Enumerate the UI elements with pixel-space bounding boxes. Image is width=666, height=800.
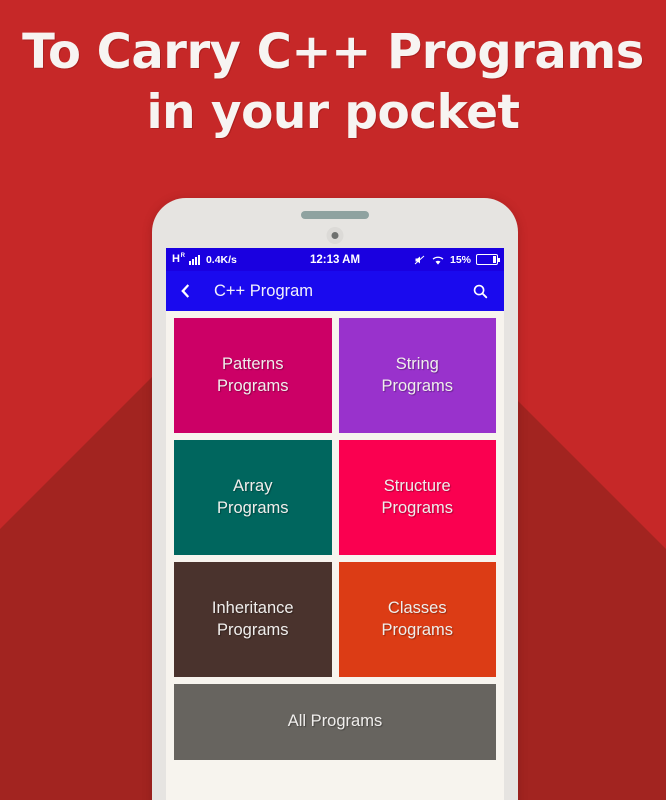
tile-line-1: Classes xyxy=(381,598,453,620)
phone-screen: HR 0.4K/s 12:13 AM 15% xyxy=(166,248,504,800)
front-camera-icon xyxy=(327,227,344,244)
tile-line-1: String xyxy=(381,354,453,376)
tile-line-1: Patterns xyxy=(217,354,289,376)
tile-label: All Programs xyxy=(288,711,382,733)
tile-line-2: Programs xyxy=(217,498,289,520)
battery-percent-label: 15% xyxy=(450,254,471,266)
network-roaming-superscript: R xyxy=(181,253,185,259)
mute-icon xyxy=(413,254,426,266)
tile-line-1: Inheritance xyxy=(212,598,294,620)
tile-line-2: Programs xyxy=(381,620,453,642)
phone-speaker-grille xyxy=(301,211,369,219)
app-bar-title: C++ Program xyxy=(214,282,472,301)
tile-label: Inheritance Programs xyxy=(212,598,294,642)
back-chevron-icon[interactable] xyxy=(178,283,196,299)
tile-label: Structure Programs xyxy=(381,476,453,520)
tile-array-programs[interactable]: Array Programs xyxy=(174,440,332,555)
tile-all-programs[interactable]: All Programs xyxy=(174,684,496,760)
tile-label: Array Programs xyxy=(217,476,289,520)
tile-inheritance-programs[interactable]: Inheritance Programs xyxy=(174,562,332,677)
tile-label: Patterns Programs xyxy=(217,354,289,398)
status-bar-right: 15% xyxy=(360,254,498,266)
status-bar: HR 0.4K/s 12:13 AM 15% xyxy=(166,248,504,271)
tile-line-2: Programs xyxy=(381,498,453,520)
network-type-label: HR xyxy=(172,254,185,265)
tile-line-1: Structure xyxy=(381,476,453,498)
signal-bars-icon xyxy=(189,255,200,265)
tile-line-2: Programs xyxy=(217,376,289,398)
tile-string-programs[interactable]: String Programs xyxy=(339,318,497,433)
wifi-icon xyxy=(431,254,445,266)
status-bar-left: HR 0.4K/s xyxy=(172,254,310,266)
battery-icon xyxy=(476,254,498,265)
search-icon[interactable] xyxy=(472,283,492,300)
page-title: To Carry C++ Programs in your pocket xyxy=(0,22,666,144)
headline-line-2: in your pocket xyxy=(0,83,666,143)
data-speed-label: 0.4K/s xyxy=(206,254,237,266)
status-bar-clock: 12:13 AM xyxy=(310,254,360,266)
tile-line-2: Programs xyxy=(212,620,294,642)
tile-line-2: Programs xyxy=(381,376,453,398)
phone-mockup: HR 0.4K/s 12:13 AM 15% xyxy=(152,198,518,800)
program-category-grid: Patterns Programs String Programs Array … xyxy=(166,311,504,768)
tile-classes-programs[interactable]: Classes Programs xyxy=(339,562,497,677)
app-bar: C++ Program xyxy=(166,271,504,311)
tile-line-1: All Programs xyxy=(288,711,382,733)
network-type-text: H xyxy=(172,253,180,265)
tile-structure-programs[interactable]: Structure Programs xyxy=(339,440,497,555)
tile-label: Classes Programs xyxy=(381,598,453,642)
tile-line-1: Array xyxy=(217,476,289,498)
promo-banner: To Carry C++ Programs in your pocket HR … xyxy=(0,0,666,800)
tile-patterns-programs[interactable]: Patterns Programs xyxy=(174,318,332,433)
tile-label: String Programs xyxy=(381,354,453,398)
headline-line-1: To Carry C++ Programs xyxy=(0,22,666,83)
